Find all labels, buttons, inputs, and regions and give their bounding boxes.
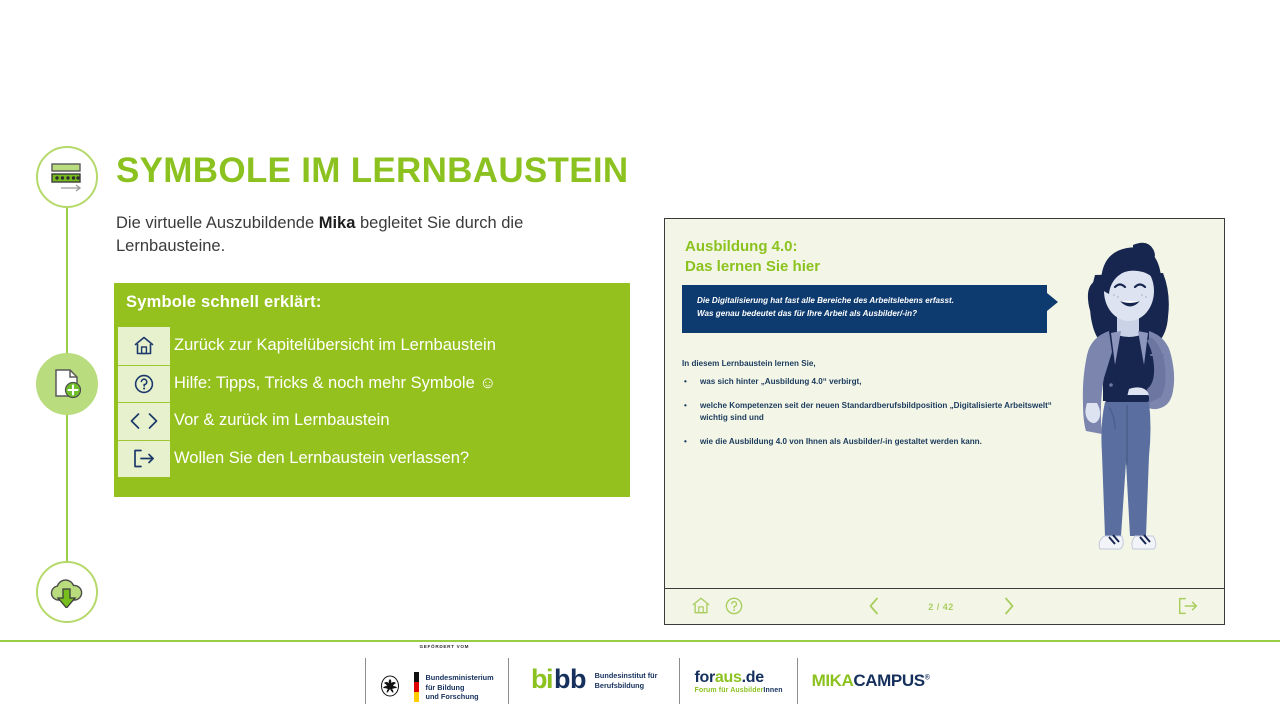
bibb-line1: Bundesinstitut für — [595, 671, 658, 680]
mika-character-illustration — [1047, 227, 1212, 577]
help-circle-icon — [133, 373, 155, 395]
page-title: SYMBOLE IM LERNBAUSTEIN — [116, 152, 628, 191]
legend-row: Wollen Sie den Lernbaustein verlassen? — [174, 440, 624, 478]
legend-icon-cell-home[interactable] — [118, 327, 170, 365]
preview-bullet-list: was sich hinter „Ausbildung 4.0“ verbirg… — [682, 376, 1072, 459]
bibb-wordmark-icon: b i b b — [531, 664, 589, 699]
legend-row-list: Zurück zur Kapitelübersicht im Lernbaust… — [174, 327, 624, 477]
home-icon — [133, 335, 155, 356]
intro-highlight-mika: Mika — [319, 214, 356, 232]
logo-bmbf: GEFÖRDERT VOM Bundesministerium für Bild… — [380, 660, 494, 702]
legend-row: Hilfe: Tipps, Tricks & noch mehr Symbole… — [174, 365, 624, 403]
foraus-tagline-a: Forum für Ausbilder — [694, 687, 763, 694]
registered-mark-icon: ® — [925, 674, 930, 681]
home-icon — [691, 596, 711, 620]
svg-text:b: b — [554, 664, 571, 694]
foraus-part-for: for — [694, 669, 714, 686]
document-add-icon — [50, 367, 84, 401]
foraus-tagline-b: Innen — [763, 687, 782, 694]
preview-speech-bubble: Die Digitalisierung hat fast alle Bereic… — [682, 285, 1047, 333]
list-item: was sich hinter „Ausbildung 4.0“ verbirg… — [682, 376, 1072, 389]
intro-paragraph: Die virtuelle Auszubildende Mika begleit… — [116, 212, 596, 259]
foraus-part-de: .de — [742, 669, 764, 686]
bmbf-line1: Bundesministerium — [426, 673, 494, 682]
legend-icon-cell-prev-next[interactable] — [118, 402, 170, 440]
legend-icon-cell-exit[interactable] — [118, 440, 170, 478]
logo-divider — [679, 658, 680, 704]
help-circle-icon — [724, 596, 744, 621]
rail-node-document-add[interactable] — [36, 353, 98, 415]
nav-home-button[interactable] — [691, 596, 711, 620]
bmbf-wordmark: Bundesministerium für Bildung und Forsch… — [426, 673, 494, 702]
bibb-subtitle: Bundesinstitut für Berufsbildung — [595, 671, 658, 690]
foraus-wordmark: foraus.de — [694, 669, 782, 687]
list-item: wie die Ausbildung 4.0 von Ihnen als Aus… — [682, 436, 1072, 449]
logo-foraus: foraus.de Forum für AusbilderInnen — [694, 669, 782, 694]
cloud-download-icon — [48, 576, 86, 608]
logo-divider — [797, 658, 798, 704]
chevron-right-icon — [1002, 596, 1016, 621]
svg-text:b: b — [570, 664, 587, 694]
nav-help-button[interactable] — [724, 596, 744, 621]
rail-node-cloud-download[interactable] — [36, 561, 98, 623]
foraus-part-aus: aus — [715, 669, 742, 686]
logo-bibb: b i b b Bundesinstitut für Berufsbildung — [523, 658, 666, 705]
nav-next-button[interactable] — [1002, 596, 1016, 621]
intro-text-before: Die virtuelle Auszubildende — [116, 214, 319, 232]
exit-icon — [131, 448, 157, 469]
svg-text:i: i — [546, 664, 554, 694]
footer-logo-bar: GEFÖRDERT VOM Bundesministerium für Bild… — [0, 642, 1280, 720]
logo-divider — [365, 658, 366, 704]
foraus-tagline: Forum für AusbilderInnen — [694, 687, 782, 694]
progress-steps-icon — [49, 162, 85, 192]
preview-title-line2: Das lernen Sie hier — [685, 257, 820, 277]
federal-eagle-icon — [380, 675, 400, 702]
slide-root: SYMBOLE IM LERNBAUSTEIN Die virtuelle Au… — [0, 0, 1280, 720]
legend-row: Vor & zurück im Lernbaustein — [174, 402, 624, 440]
logo-mikacampus: MIKACAMPUS® — [812, 671, 930, 691]
mikacampus-part-mika: MIKA — [812, 671, 854, 690]
logo-divider — [508, 658, 509, 704]
bubble-line2: Was genau bedeutet das für Ihre Arbeit a… — [697, 309, 917, 318]
prev-next-icon — [127, 411, 161, 431]
bmbf-line2: für Bildung — [426, 683, 465, 692]
bmbf-line3: und Forschung — [426, 692, 479, 701]
funded-by-label: GEFÖRDERT VOM — [420, 644, 470, 649]
preview-title: Ausbildung 4.0: Das lernen Sie hier — [685, 237, 820, 278]
bibb-line2: Berufsbildung — [595, 681, 644, 690]
preview-lead-text: In diesem Lernbaustein lernen Sie, — [682, 359, 816, 368]
nav-exit-button[interactable] — [1176, 596, 1200, 621]
page-counter: 2 / 42 — [901, 602, 981, 612]
german-flag-bar-icon — [414, 672, 419, 702]
exit-icon — [1176, 596, 1200, 621]
legend-row: Zurück zur Kapitelübersicht im Lernbaust… — [174, 327, 624, 365]
nav-prev-button[interactable] — [867, 596, 881, 621]
legend-icon-strip — [118, 327, 170, 477]
lernbaustein-preview-panel[interactable]: Ausbildung 4.0: Das lernen Sie hier Die … — [664, 218, 1225, 625]
legend-icon-cell-help[interactable] — [118, 365, 170, 403]
preview-navigation-bar: 2 / 42 — [665, 588, 1224, 624]
mikacampus-part-campus: CAMPUS — [853, 671, 924, 690]
list-item: welche Kompetenzen seit der neuen Standa… — [682, 400, 1072, 425]
legend-heading: Symbole schnell erklärt: — [126, 293, 322, 312]
progress-rail — [36, 146, 98, 626]
rail-node-progress-steps[interactable] — [36, 146, 98, 208]
chevron-left-icon — [867, 596, 881, 621]
bubble-line1: Die Digitalisierung hat fast alle Bereic… — [697, 296, 954, 305]
preview-title-line1: Ausbildung 4.0: — [685, 237, 820, 257]
